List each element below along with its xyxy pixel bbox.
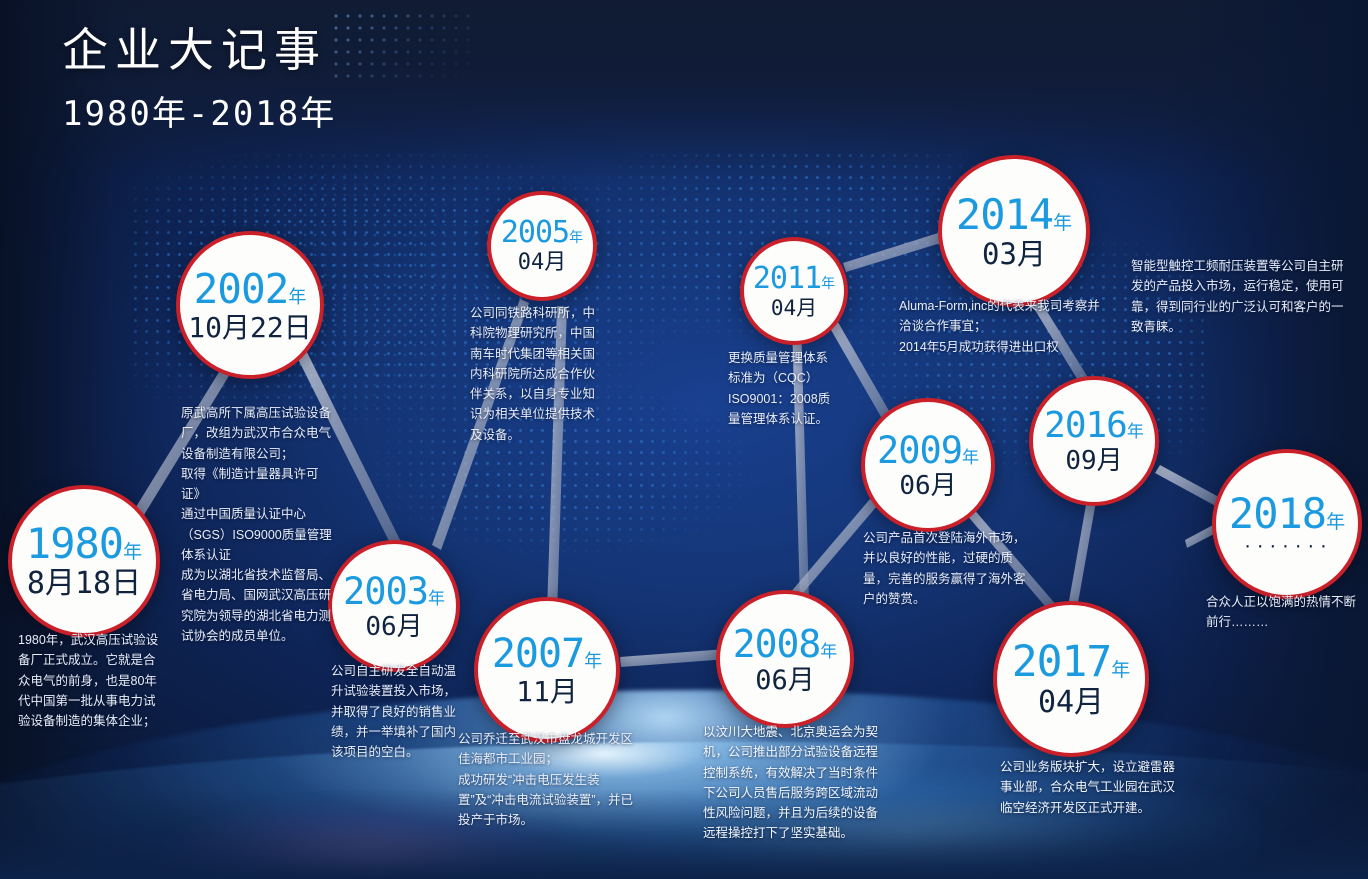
milestone-desc-2009: 公司产品首次登陆海外市场，并以良好的性能，过硬的质量，完善的服务赢得了海外客户的… bbox=[863, 528, 1028, 609]
milestone-date-1980: 8月18日 bbox=[27, 569, 141, 599]
page-title: 企业大记事 bbox=[62, 22, 336, 80]
milestone-node-2009[interactable]: 2009 年 06月 bbox=[861, 398, 995, 532]
page-subtitle: 1980年-2018年 bbox=[62, 86, 336, 135]
milestone-year-2017: 2017 年 bbox=[1012, 641, 1131, 684]
milestone-desc-2018: 合众人正以饱满的热情不断前行……… bbox=[1206, 592, 1358, 633]
milestone-year-2016: 2016 年 bbox=[1044, 408, 1144, 444]
milestone-year-2014: 2014 年 bbox=[956, 194, 1072, 236]
milestone-node-2007[interactable]: 2007 年 11月 bbox=[474, 597, 620, 743]
milestone-year-2008: 2008 年 bbox=[733, 625, 838, 663]
milestone-year-2007: 2007 年 bbox=[492, 634, 602, 674]
milestone-desc-2007: 公司乔迁至武汉市盘龙城开发区佳海都市工业园； 成功研发“冲击电压发生装置”及“冲… bbox=[458, 729, 634, 830]
milestone-date-2009: 06月 bbox=[899, 473, 956, 499]
milestone-year-2009: 2009 年 bbox=[877, 432, 979, 469]
milestone-desc-2002: 原武高所下属高压试验设备厂，改组为武汉市合众电气设备制造有限公司； 取得《制造计… bbox=[181, 403, 333, 646]
milestone-desc-2011: 更换质量管理体系标准为（CQC）ISO9001：2008质量管理体系认证。 bbox=[728, 348, 838, 429]
milestone-date-2005: 04月 bbox=[518, 252, 567, 274]
milestone-desc-2005: 公司同铁路科研所，中科院物理研究所，中国南车时代集团等相关国内科研院所达成合作伙… bbox=[470, 303, 606, 445]
milestone-node-2018[interactable]: 2018 年 ······· bbox=[1212, 449, 1362, 599]
milestone-node-2011[interactable]: 2011 年 04月 bbox=[740, 237, 848, 345]
milestone-date-2017: 04月 bbox=[1038, 688, 1104, 718]
milestone-desc-2017: 公司业务版块扩大，设立避雷器事业部，合众电气工业园在武汉临空经济开发区正式开建。 bbox=[1000, 757, 1178, 818]
milestone-node-2005[interactable]: 2005 年 04月 bbox=[487, 191, 597, 301]
infographic-canvas: 企业大记事 1980年-2018年 bbox=[0, 0, 1368, 879]
milestone-year-1980: 1980 年 bbox=[26, 523, 142, 565]
milestone-date-2008: 06月 bbox=[755, 667, 815, 694]
milestone-desc-2014: Aluma-Form,inc的代表来我司考察并洽谈合作事宜； 2014年5月成功… bbox=[899, 296, 1104, 357]
milestone-desc-2016: 智能型触控工频耐压装置等公司自主研发的产品投入市场，运行稳定，使用可靠，得到同行… bbox=[1131, 256, 1347, 337]
milestone-year-2005: 2005 年 bbox=[501, 218, 583, 248]
milestone-node-2008[interactable]: 2008 年 06月 bbox=[716, 590, 854, 728]
milestone-date-2003: 06月 bbox=[365, 614, 422, 640]
milestone-desc-2008: 以汶川大地震、北京奥运会为契机，公司推出部分试验设备远程控制系统，有效解决了当时… bbox=[703, 722, 880, 844]
milestone-date-2002: 10月22日 bbox=[188, 314, 311, 342]
milestone-date-2016: 09月 bbox=[1065, 448, 1122, 474]
milestone-node-2002[interactable]: 2002 年 10月22日 bbox=[176, 231, 324, 379]
milestone-year-2018: 2018 年 bbox=[1229, 493, 1345, 535]
milestone-date-2007: 11月 bbox=[516, 678, 578, 706]
milestone-node-2014[interactable]: 2014 年 03月 bbox=[938, 155, 1090, 307]
milestone-date-2014: 03月 bbox=[982, 240, 1046, 269]
milestone-node-1980[interactable]: 1980 年 8月18日 bbox=[8, 485, 160, 637]
milestone-node-2016[interactable]: 2016 年 09月 bbox=[1029, 376, 1159, 506]
milestone-date-2018: ······· bbox=[1243, 539, 1331, 555]
milestone-node-2017[interactable]: 2017 年 04月 bbox=[993, 601, 1149, 757]
milestone-desc-1980: 1980年，武汉高压试验设备厂正式成立。它就是合众电气的前身，也是80年代中国第… bbox=[18, 630, 163, 731]
milestone-year-2003: 2003 年 bbox=[343, 573, 445, 610]
title-block: 企业大记事 1980年-2018年 bbox=[62, 22, 336, 135]
milestone-node-2003[interactable]: 2003 年 06月 bbox=[328, 540, 460, 672]
milestone-year-2002: 2002 年 bbox=[194, 269, 307, 310]
milestone-date-2011: 04月 bbox=[771, 298, 817, 319]
milestone-desc-2003: 公司自主研发全自动温升试验装置投入市场，并取得了良好的销售业绩，并一举填补了国内… bbox=[331, 661, 461, 762]
milestone-year-2011: 2011 年 bbox=[753, 264, 835, 294]
